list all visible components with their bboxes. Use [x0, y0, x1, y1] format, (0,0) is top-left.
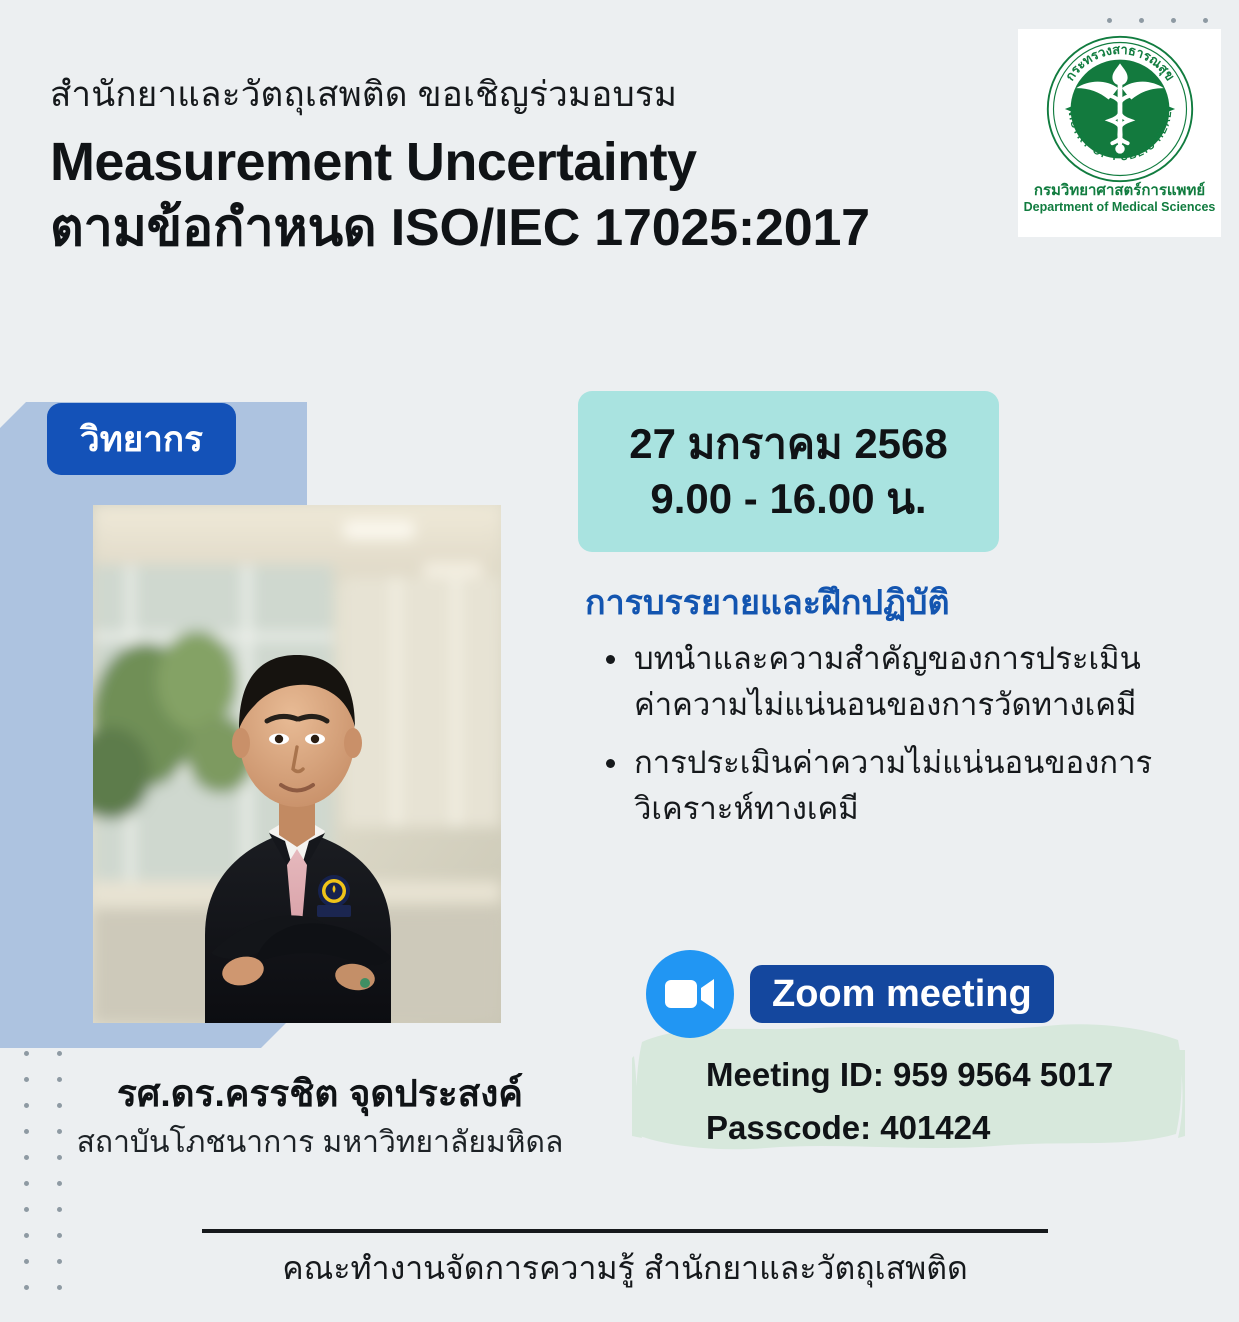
ministry-of-public-health-seal-icon: กระทรวงสาธารณสุข MINISTRY OF PUBLIC HEAL…: [1044, 33, 1196, 185]
zoom-passcode: Passcode: 401424: [706, 1108, 990, 1148]
speaker-name: รศ.ดร.ครรชิต จุดประสงค์: [0, 1073, 640, 1116]
dot: [24, 1285, 29, 1290]
dot: [1139, 18, 1144, 23]
page-title-thai: ตามข้อกำหนด ISO/IEC 17025:2017: [50, 199, 1010, 257]
zoom-meeting-label: Zoom meeting: [772, 975, 1032, 1013]
event-date: 27 มกราคม 2568: [629, 418, 948, 471]
logo-caption-english: Department of Medical Sciences: [1024, 201, 1216, 215]
logo-caption-thai: กรมวิทยาศาสตร์การแพทย์: [1034, 183, 1205, 200]
zoom-meeting-id: Meeting ID: 959 9564 5017: [706, 1055, 1113, 1095]
dot: [24, 1233, 29, 1238]
dot: [57, 1259, 62, 1264]
dot: [24, 1181, 29, 1186]
dot: [57, 1051, 62, 1056]
speaker-portrait-image: [93, 505, 501, 1023]
dot: [24, 1259, 29, 1264]
speaker-photo: [93, 505, 501, 1023]
dot: [24, 1051, 29, 1056]
poster-header: สำนักยาและวัตถุเสพติด ขอเชิญร่วมอบรม Mea…: [50, 74, 1010, 257]
list-item: การประเมินค่าความไม่แน่นอนของการวิเคราะห…: [598, 740, 1178, 832]
footer-divider: [202, 1229, 1048, 1233]
page-title-english: Measurement Uncertainty: [50, 134, 1010, 191]
dot: [24, 1207, 29, 1212]
video-camera-glyph: [663, 974, 717, 1014]
speaker-badge: วิทยากร: [47, 403, 236, 475]
ministry-logo: กระทรวงสาธารณสุข MINISTRY OF PUBLIC HEAL…: [1018, 29, 1221, 237]
dot: [1203, 18, 1208, 23]
program-heading: การบรรยายและฝึกปฏิบัติ: [585, 583, 950, 624]
dot: [57, 1181, 62, 1186]
event-time: 9.00 - 16.00 น.: [650, 473, 926, 526]
dot: [1171, 18, 1176, 23]
header-kicker: สำนักยาและวัตถุเสพติด ขอเชิญร่วมอบรม: [50, 74, 1010, 116]
poster-root: สำนักยาและวัตถุเสพติด ขอเชิญร่วมอบรม Mea…: [0, 0, 1239, 1322]
dot: [57, 1285, 62, 1290]
zoom-video-camera-icon[interactable]: [646, 950, 734, 1038]
zoom-meeting-pill[interactable]: Zoom meeting: [750, 965, 1054, 1023]
dot: [57, 1233, 62, 1238]
dot: [57, 1207, 62, 1212]
program-list: บทนำและความสำคัญของการประเมินค่าความไม่แ…: [598, 636, 1178, 844]
list-item: บทนำและความสำคัญของการประเมินค่าความไม่แ…: [598, 636, 1178, 728]
event-datetime-box: 27 มกราคม 2568 9.00 - 16.00 น.: [578, 391, 999, 552]
dot: [1107, 18, 1112, 23]
speaker-badge-label: วิทยากร: [80, 422, 203, 457]
footer-organizer: คณะทำงานจัดการความรู้ สำนักยาและวัตถุเสพ…: [202, 1248, 1048, 1288]
speaker-affiliation: สถาบันโภชนาการ มหาวิทยาลัยมหิดล: [0, 1125, 640, 1161]
